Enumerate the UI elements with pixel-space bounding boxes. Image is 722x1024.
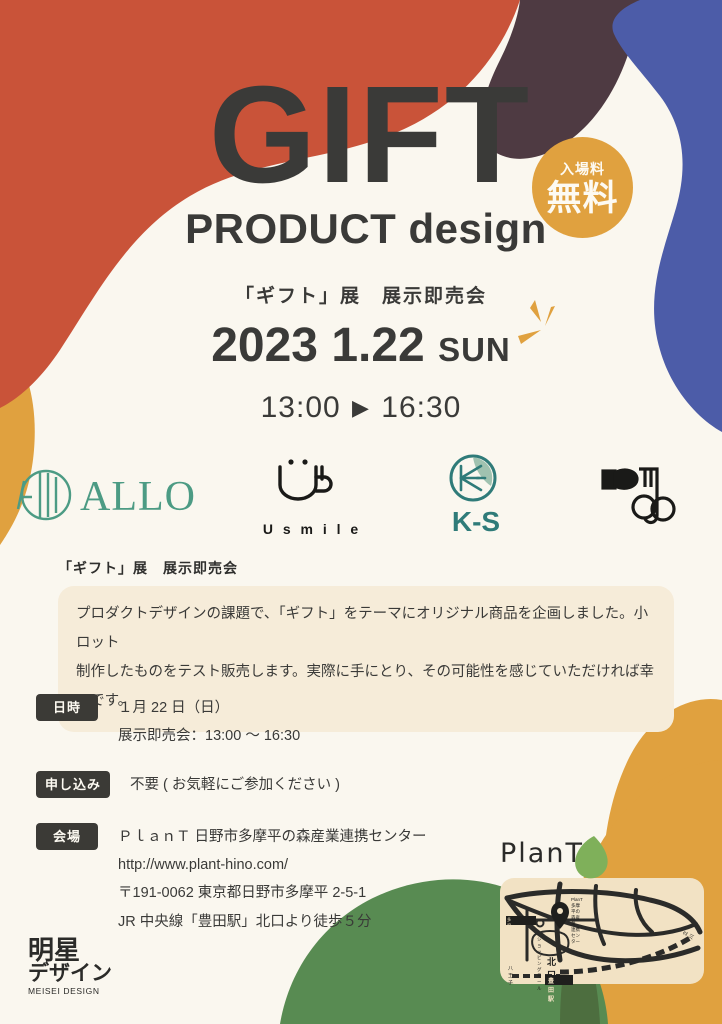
map-station-label: 豊田駅 xyxy=(548,976,554,1003)
hero-section: GIFT PRODUCT design 「ギフト」展 展示即売会 2023 1.… xyxy=(0,72,722,425)
datetime-line-1: １月 22 日（日） xyxy=(118,694,300,722)
venue-line-1: ＰｌａｎＴ 日野市多摩平の森産業連携センター xyxy=(118,823,427,851)
logo-usmile: U s m i l e xyxy=(230,453,394,537)
application-line-1: 不要 ( お気軽にご参加ください ) xyxy=(130,771,340,799)
detail-label-venue: 会場 xyxy=(36,823,98,850)
hero-subtitle-jp: 「ギフト」展 展示即売会 xyxy=(0,281,722,308)
logo-row: ALLO U s m i l e xyxy=(0,442,722,547)
sparkle-icon xyxy=(515,296,577,358)
map-hachioji-label: 八王子 xyxy=(508,965,513,986)
description-heading: 「ギフト」展 展示即売会 xyxy=(58,558,674,578)
map-pin-label-3: 連携センター xyxy=(571,927,583,945)
detail-body-datetime: １月 22 日（日） 展示即売会：13:00 〜 16:30 xyxy=(118,694,300,751)
allo-mark-icon: ALLO xyxy=(0,463,230,527)
poster-root: GIFT PRODUCT design 「ギフト」展 展示即売会 2023 1.… xyxy=(0,0,722,1024)
event-time-start: 13:00 xyxy=(261,391,341,424)
venue-address: 〒191-0062 東京都日野市多摩平 2-5-1 xyxy=(118,879,427,907)
detail-row-venue: 会場 ＰｌａｎＴ 日野市多摩平の森産業連携センター http://www.pla… xyxy=(36,823,506,936)
datetime-line-2: 展示即売会：13:00 〜 16:30 xyxy=(118,722,300,750)
map-pin-dot xyxy=(557,908,563,914)
triangle-right-icon: ▶ xyxy=(350,395,372,421)
logo-allo: ALLO xyxy=(0,463,230,527)
lamp-mark-icon xyxy=(595,457,685,533)
event-date: 2023 1.22 SUN xyxy=(0,318,722,373)
map-mall-label-1: ショッピング xyxy=(537,937,542,973)
meisei-logo-line-2: デザイン xyxy=(28,963,112,984)
event-time: 13:00 ▶ 16:30 xyxy=(0,391,722,425)
event-date-value: 2023 1.22 xyxy=(211,319,425,372)
free-admission-badge: 入場料 無料 xyxy=(532,137,633,238)
ks-leaf-mark-icon xyxy=(437,452,515,508)
meisei-logo-line-1: 明星 xyxy=(28,938,112,963)
detail-label-application: 申し込み xyxy=(36,771,110,798)
details-section: 日時 １月 22 日（日） 展示即売会：13:00 〜 16:30 申し込み 不… xyxy=(36,694,506,956)
detail-label-datetime: 日時 xyxy=(36,694,98,721)
svg-text:ALLO: ALLO xyxy=(80,474,196,520)
logo-ks-label: K-S xyxy=(452,506,500,538)
detail-body-venue: ＰｌａｎＴ 日野市多摩平の森産業連携センター http://www.plant-… xyxy=(118,823,427,936)
event-day-of-week: SUN xyxy=(438,331,511,368)
detail-body-application: 不要 ( お気軽にご参加ください ) xyxy=(130,771,340,799)
map-mall-label-2: モール xyxy=(537,973,542,991)
logo-usmile-label: U s m i l e xyxy=(263,521,361,537)
detail-row-datetime: 日時 １月 22 日（日） 展示即売会：13:00 〜 16:30 xyxy=(36,694,506,751)
meisei-logo-en: MEISEI DESIGN xyxy=(28,986,112,996)
badge-admission-label: 入場料 xyxy=(560,159,605,179)
meisei-design-logo: 明星 デザイン MEISEI DESIGN xyxy=(28,938,112,996)
plant-brand-wordmark: PlanT xyxy=(500,838,584,869)
logo-lamp xyxy=(558,457,722,533)
detail-row-application: 申し込み 不要 ( お気軽にご参加ください ) xyxy=(36,771,506,799)
map-pin-label-2: 多摩平の森産業 xyxy=(571,903,583,927)
venue-access: JR 中央線「豊田駅」北口より徒歩５分 xyxy=(118,908,427,936)
badge-free-label: 無料 xyxy=(546,181,618,216)
description-line-1: プロダクトデザインの課題で、「ギフト」をテーマにオリジナル商品を企画しました。小… xyxy=(76,600,656,658)
usmile-mark-icon xyxy=(262,453,362,517)
venue-url[interactable]: http://www.plant-hino.com/ xyxy=(118,851,427,879)
logo-ks: K-S xyxy=(394,452,558,538)
map-west-label: 多摩平北交差点 xyxy=(507,917,511,959)
event-time-end: 16:30 xyxy=(381,391,461,424)
